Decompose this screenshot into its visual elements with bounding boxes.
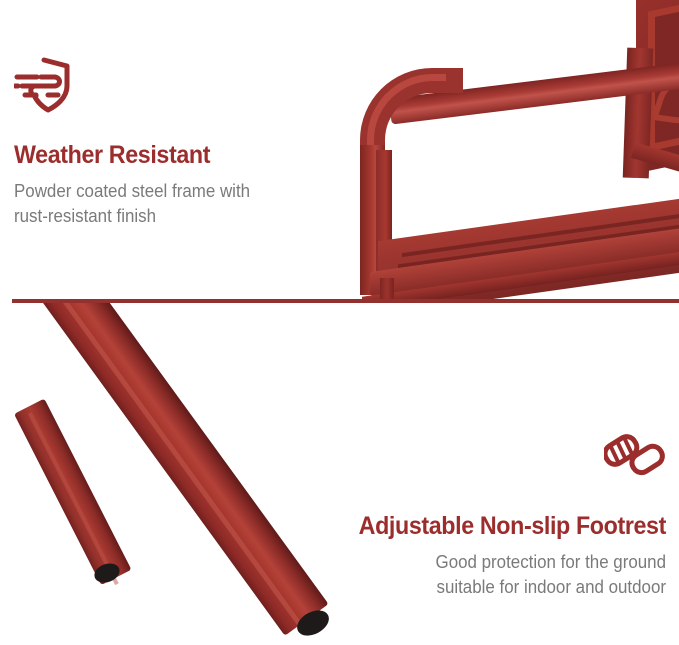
feature-body: Powder coated steel frame with rust-resi… [14,179,315,230]
feature-headline: Adjustable Non-slip Footrest [322,512,666,542]
shield-wind-icon [14,55,334,115]
feature-body-line: Good protection for the ground [318,550,666,576]
feature-body-line: suitable for indoor and outdoor [318,575,666,601]
feature-adjustable-footrest: Adjustable Non-slip Footrest Good protec… [296,428,666,601]
section-divider [12,299,679,303]
bench-armrest-photo [340,0,679,302]
feature-body-line: Powder coated steel frame with [14,179,315,205]
infographic-canvas: Weather Resistant Powder coated steel fr… [0,0,679,645]
bench-leg-secondary-groove [28,412,119,585]
feature-body: Good protection for the ground suitable … [318,550,666,601]
feature-headline: Weather Resistant [14,141,312,171]
feature-weather-resistant: Weather Resistant Powder coated steel fr… [14,55,334,230]
feature-body-line: rust-resistant finish [14,204,315,230]
bench-leg-secondary [14,399,131,586]
footrest-pad-icon [296,428,666,486]
